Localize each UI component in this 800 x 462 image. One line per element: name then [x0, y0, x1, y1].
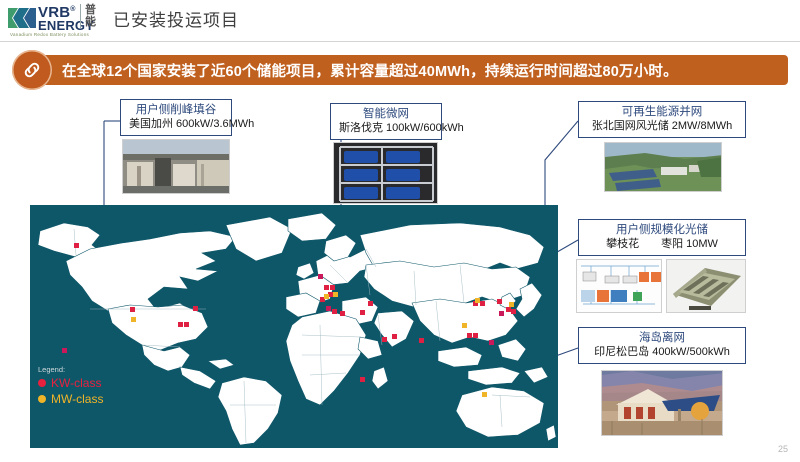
callout-island-offgrid[interactable]: 海岛离网 印尼松巴岛 400kW/500kWh — [578, 327, 746, 364]
legend-item-mw: MW-class — [38, 392, 103, 406]
callout-peak-shaving[interactable]: 用户侧削峰填谷 美国加州 600kW/3.6MWh — [120, 99, 232, 136]
map-marker-kw — [480, 301, 485, 306]
map-marker-kw2 — [499, 311, 504, 316]
logo-mark-icon — [8, 6, 36, 30]
map-marker-kw — [340, 311, 345, 316]
callout-detail: 攀枝花枣阳 10MW — [587, 237, 737, 251]
map-marker-kw — [392, 334, 397, 339]
callout-title: 海岛离网 — [587, 331, 737, 345]
map-marker-kw — [324, 285, 329, 290]
map-marker-kw2 — [318, 274, 323, 279]
callout-title: 用户侧削峰填谷 — [129, 103, 223, 117]
callout-detail: 斯洛伐克 100kW/600kWh — [339, 121, 433, 135]
map-marker-kw — [473, 333, 478, 338]
map-legend: Legend: KW-class MW-class — [38, 365, 103, 406]
map-marker-mw — [324, 294, 329, 299]
callout-utility-scale-pv-storage[interactable]: 用户侧规模化光储 攀枝花枣阳 10MW — [578, 219, 746, 256]
legend-label-kw: KW-class — [51, 376, 101, 390]
map-marker-kw — [511, 309, 516, 314]
map-marker-kw — [178, 322, 183, 327]
header-divider — [0, 41, 800, 42]
zaoyang-battery-stack-photo — [666, 259, 746, 313]
banner-bar: 在全球12个国家安装了近60个储能项目，累计容量超过40MWh，持续运行时间超过… — [40, 55, 788, 85]
legend-dot-kw-icon — [38, 379, 46, 387]
callout-renewable-grid[interactable]: 可再生能源并网 张北国网风光储 2MW/8MWh — [578, 101, 746, 138]
callout-detail-left: 攀枝花 — [606, 238, 639, 250]
page-header: VRB® ENERGY 普能 Vanadium Redox Battery So… — [0, 0, 800, 42]
map-marker-kw2 — [489, 340, 494, 345]
map-marker-mw — [462, 323, 467, 328]
callout-detail: 印尼松巴岛 400kW/500kWh — [587, 345, 737, 359]
logo-trademark: ® — [70, 6, 75, 13]
california-container-site-photo — [122, 139, 230, 194]
callout-title: 可再生能源并网 — [587, 105, 737, 119]
map-marker-mw — [475, 298, 480, 303]
world-map-landmasses — [30, 205, 558, 448]
legend-dot-mw-icon — [38, 395, 46, 403]
vrb-energy-logo: VRB® ENERGY 普能 Vanadium Redox Battery So… — [8, 2, 100, 40]
map-marker-kw — [368, 301, 373, 306]
callout-detail: 美国加州 600kW/3.6MWh — [129, 117, 223, 131]
legend-label-mw: MW-class — [51, 392, 103, 406]
map-marker-kw — [497, 299, 502, 304]
map-marker-kw — [130, 307, 135, 312]
legend-item-kw: KW-class — [38, 376, 103, 390]
map-marker-kw — [382, 337, 387, 342]
callout-detail-right: 枣阳 10MW — [661, 238, 718, 250]
callout-title: 智能微网 — [339, 107, 433, 121]
map-marker-kw — [360, 310, 365, 315]
map-marker-kw — [330, 285, 335, 290]
panzhihua-schematic-image — [576, 259, 662, 313]
map-marker-mw — [333, 292, 338, 297]
summary-banner: 在全球12个国家安装了近60个储能项目，累计容量超过40MWh，持续运行时间超过… — [12, 50, 788, 88]
map-marker-mw — [131, 317, 136, 322]
page-title: 已安装投运项目 — [113, 6, 239, 31]
logo-tagline: Vanadium Redox Battery Solutions — [10, 32, 89, 37]
sumba-island-offgrid-photo — [601, 370, 723, 436]
world-map: Legend: KW-class MW-class — [30, 205, 558, 448]
page-number: 25 — [778, 444, 788, 454]
callout-smart-microgrid[interactable]: 智能微网 斯洛伐克 100kW/600kWh — [330, 103, 442, 140]
map-marker-kw — [419, 338, 424, 343]
map-marker-mw — [482, 392, 487, 397]
callout-title: 用户侧规模化光储 — [587, 223, 737, 237]
slovakia-battery-rack-photo — [333, 142, 438, 204]
map-marker-kw — [74, 243, 79, 248]
banner-text: 在全球12个国家安装了近60个储能项目，累计容量超过40MWh，持续运行时间超过… — [40, 60, 678, 81]
map-marker-kw — [184, 322, 189, 327]
map-marker-kw — [193, 306, 198, 311]
map-marker-kw2 — [62, 348, 67, 353]
map-marker-mw — [509, 302, 514, 307]
chain-link-icon — [12, 50, 52, 90]
callout-detail: 张北国网风光储 2MW/8MWh — [587, 119, 737, 133]
map-marker-kw2 — [326, 306, 331, 311]
legend-title: Legend: — [38, 365, 103, 374]
map-marker-kw — [332, 309, 337, 314]
logo-chinese-name: 普能 — [80, 4, 100, 28]
map-marker-kw — [360, 377, 365, 382]
zhangbei-solar-farm-photo — [604, 142, 722, 192]
map-marker-kw — [467, 333, 472, 338]
